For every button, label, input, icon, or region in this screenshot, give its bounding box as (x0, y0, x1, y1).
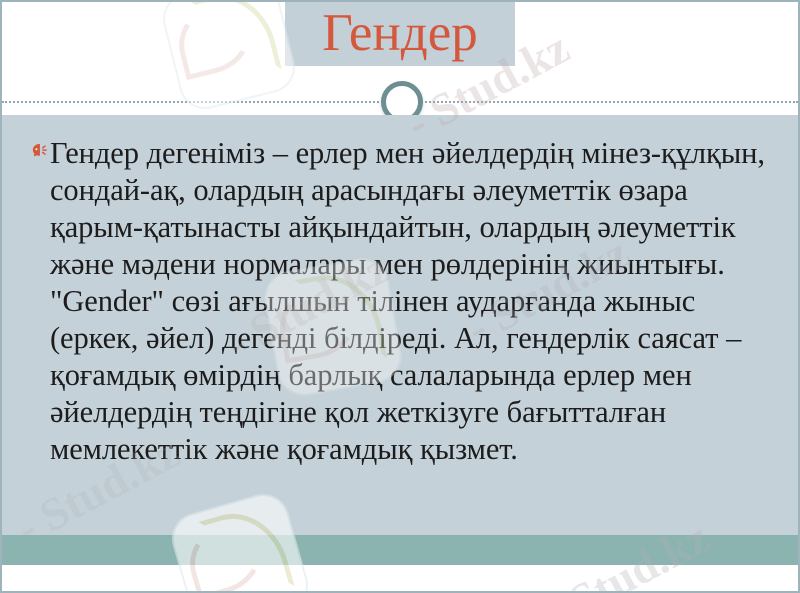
slide: Гендер Гендер дегеніміз – ерлер мен әйел… (0, 0, 800, 593)
page-title: Гендер (322, 5, 477, 61)
bottom-accent-bar (2, 535, 798, 565)
bullet-list-item: Гендер дегеніміз – ерлер мен әйелдердің … (28, 135, 778, 468)
slide-body: Гендер дегеніміз – ерлер мен әйелдердің … (2, 115, 798, 565)
speaking-head-icon (28, 141, 50, 171)
body-paragraph: Гендер дегеніміз – ерлер мен әйелдердің … (50, 135, 778, 468)
title-box: Гендер (285, 0, 515, 66)
slide-header: Гендер (2, 2, 798, 115)
